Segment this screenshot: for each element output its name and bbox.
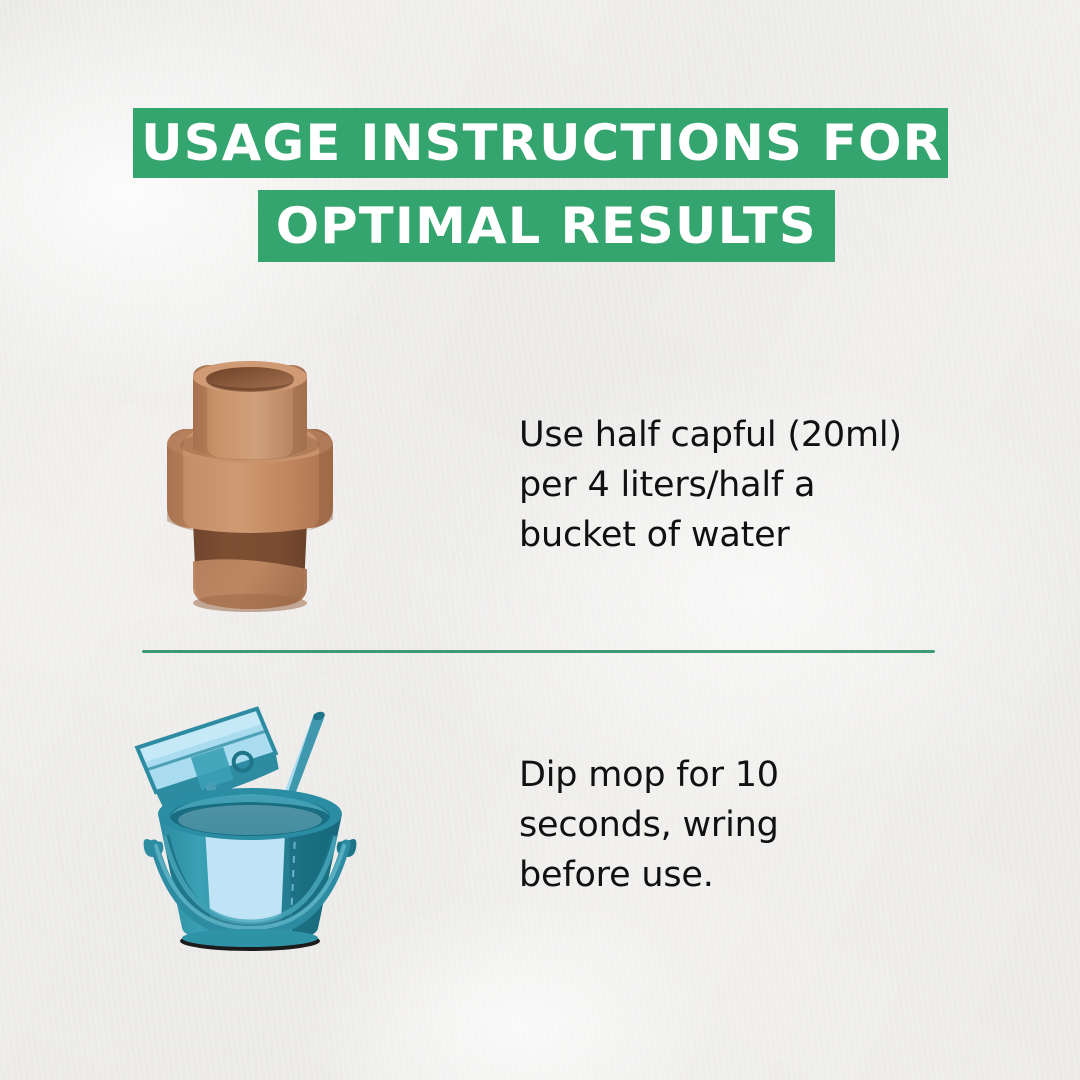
headline-line-2-text: OPTIMAL RESULTS [276,190,817,262]
step-2-illustration [0,690,500,960]
step-1-instruction-text: Use half capful (20ml) per 4 liters/half… [519,410,949,560]
cap-bottom-ellipse [193,594,307,612]
headline-banner-line-2: OPTIMAL RESULTS [258,190,835,262]
instruction-step-1: Use half capful (20ml) per 4 liters/half… [0,355,1080,615]
bucket-water-surface [178,805,322,835]
step-1-text-column: Use half capful (20ml) per 4 liters/half… [500,410,1080,560]
instruction-step-2: Dip mop for 10 seconds, wring before use… [0,685,1080,965]
step-1-illustration [0,355,500,615]
headline-line-1-text: USAGE INSTRUCTIONS FOR [141,108,943,178]
step-2-text-column: Dip mop for 10 seconds, wring before use… [500,750,1080,900]
mop-bucket-icon [120,690,380,960]
section-divider [142,650,935,653]
bottle-cap-icon [135,355,365,615]
bucket-base [182,929,318,947]
step-2-instruction-text: Dip mop for 10 seconds, wring before use… [519,750,949,900]
headline-banner-line-1: USAGE INSTRUCTIONS FOR [133,108,948,178]
poster-page: USAGE INSTRUCTIONS FOR OPTIMAL RESULTS [0,0,1080,1080]
